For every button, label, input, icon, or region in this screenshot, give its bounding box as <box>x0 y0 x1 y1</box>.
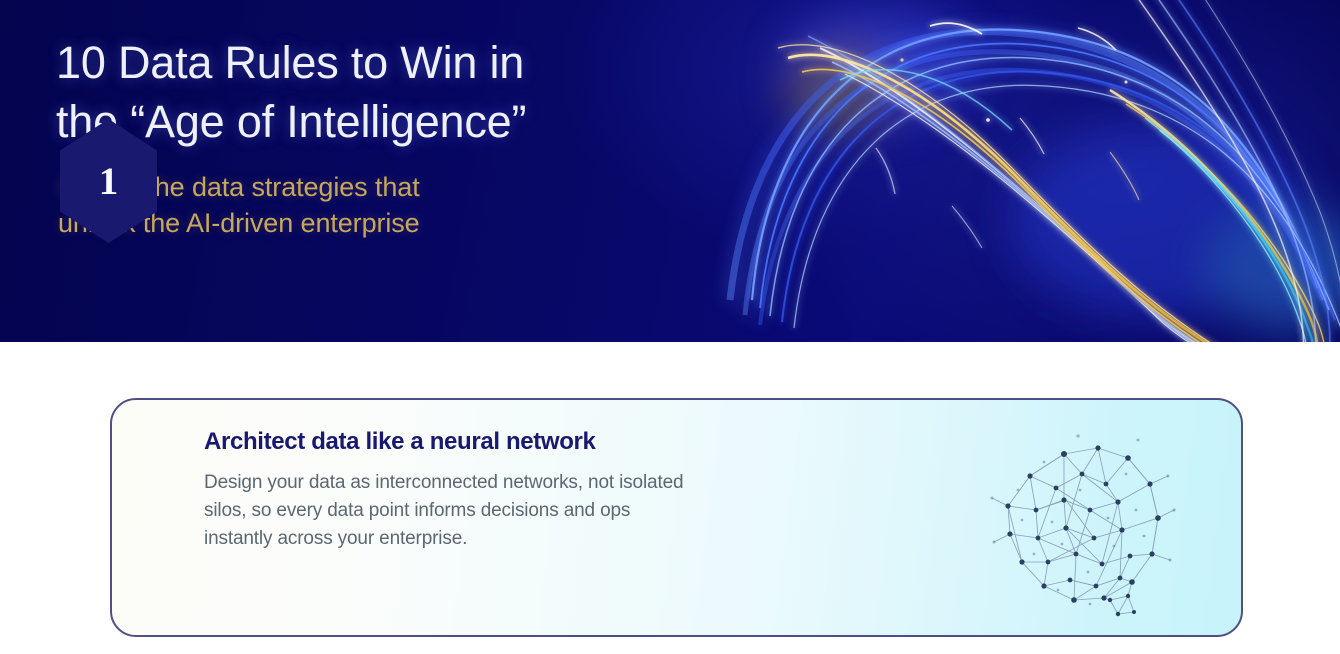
header-banner: 10 Data Rules to Win in the “Age of Inte… <box>0 0 1340 342</box>
page-title: 10 Data Rules to Win in the “Age of Inte… <box>56 34 756 151</box>
rule-card-text: Architect data like a neural network Des… <box>204 428 964 553</box>
neural-brain-icon <box>978 414 1178 626</box>
rule-description: Design your data as interconnected netwo… <box>204 469 964 553</box>
light-streaks-artwork <box>690 0 1340 342</box>
rule-number-badge: 1 <box>58 118 159 244</box>
header-text-block: 10 Data Rules to Win in the “Age of Inte… <box>56 34 756 241</box>
page-subtitle: Master the data strategies that unlock t… <box>58 169 756 241</box>
rule-number: 1 <box>58 118 159 244</box>
rule-title: Architect data like a neural network <box>204 428 964 457</box>
